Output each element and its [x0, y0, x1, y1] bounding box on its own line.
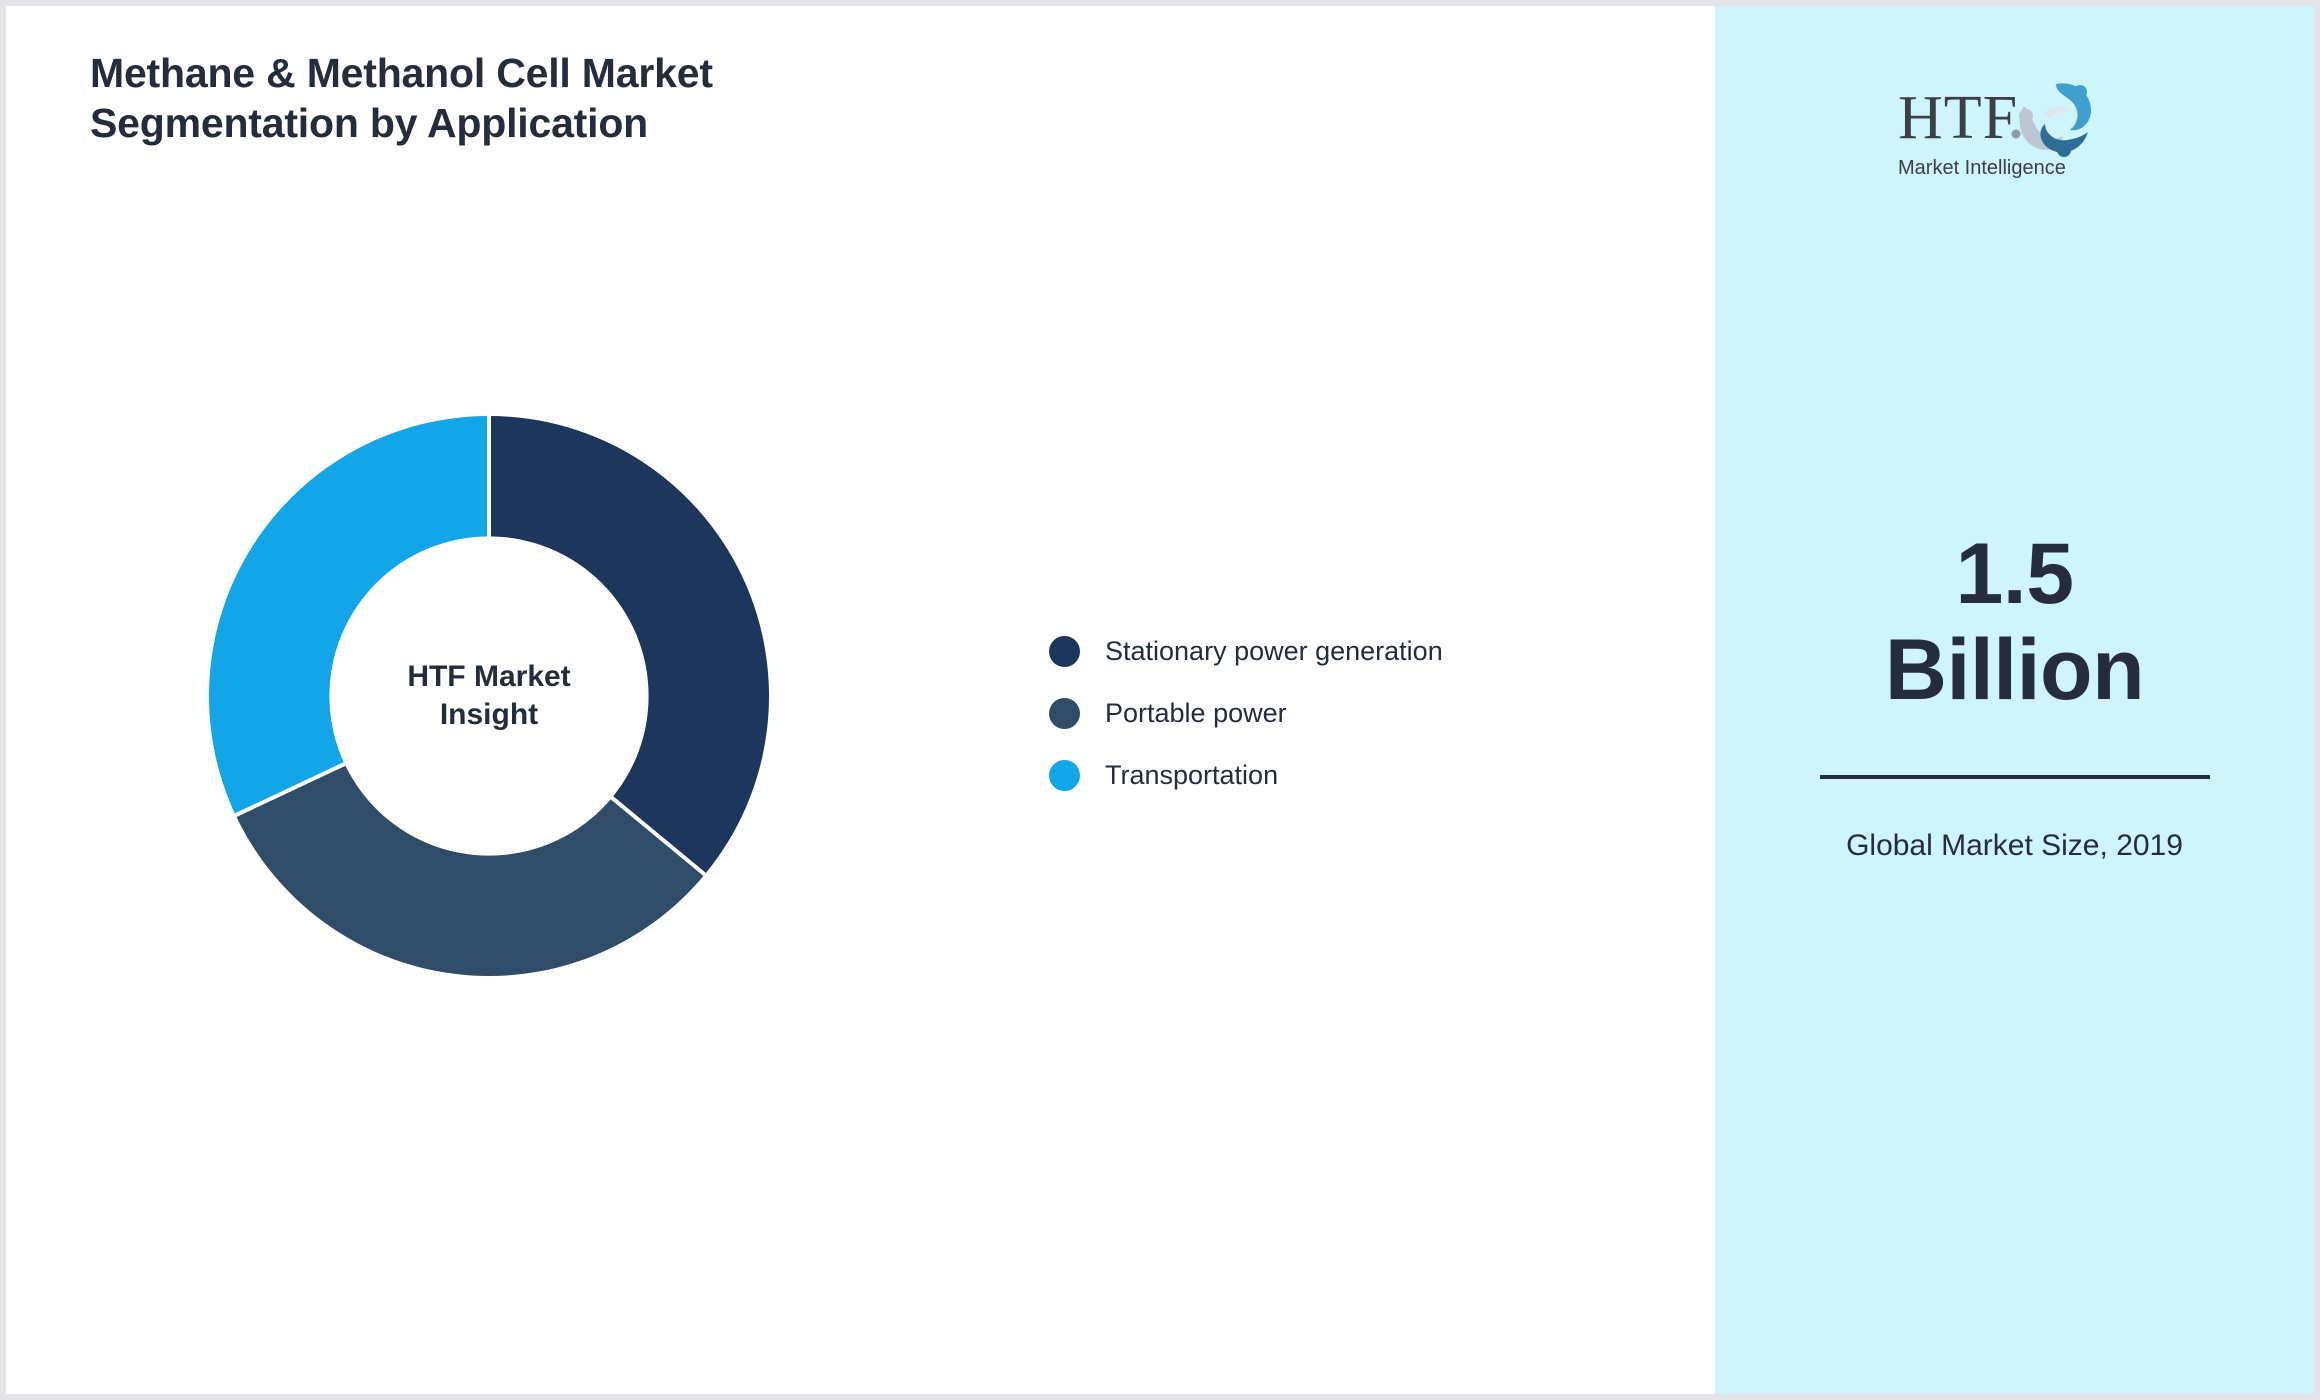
legend-label-portable-power: Portable power — [1105, 698, 1287, 729]
donut-chart: HTF Market Insight — [209, 416, 769, 976]
stat-caption-line-2: 2019 — [2116, 829, 2183, 862]
page-title-line-2: Segmentation by Application — [90, 98, 1190, 148]
htf-logo[interactable]: HTF Market Intell — [1890, 64, 2140, 182]
stat-value-line-1: 1.5 — [1885, 526, 2144, 622]
legend-swatch-circle-icon — [1049, 760, 1080, 791]
stat-value: 1.5 Billion — [1885, 526, 2144, 719]
stat-caption: Global Market Size, 2019 — [1835, 825, 2195, 866]
svg-text:Market Intelligence: Market Intelligence — [1898, 157, 2066, 179]
stat-caption-line-1: Global Market Size, — [1846, 829, 2108, 862]
infographic-canvas: Methane & Methanol Cell Market Segmentat… — [0, 0, 2320, 1400]
legend-label-transportation: Transportation — [1105, 760, 1278, 791]
legend-swatch-circle-icon — [1049, 698, 1080, 729]
legend-item-stationary-power-generation[interactable]: Stationary power generation — [1049, 620, 1443, 682]
htf-triskelion-logo-icon: HTF Market Intell — [1890, 64, 2140, 182]
chart-panel: Methane & Methanol Cell Market Segmentat… — [6, 6, 1715, 1394]
stat-value-line-2: Billion — [1885, 622, 2144, 718]
donut-chart-svg — [209, 416, 769, 976]
stat-divider — [1820, 775, 2210, 779]
legend-item-transportation[interactable]: Transportation — [1049, 744, 1443, 806]
donut-hole — [329, 536, 648, 855]
legend-label-stationary-power-generation: Stationary power generation — [1105, 636, 1443, 667]
legend-item-portable-power[interactable]: Portable power — [1049, 682, 1443, 744]
page-title: Methane & Methanol Cell Market Segmentat… — [90, 48, 1190, 148]
page-title-line-1: Methane & Methanol Cell Market — [90, 48, 1190, 98]
global-market-size-stat: 1.5 Billion Global Market Size, 2019 — [1715, 526, 2314, 866]
legend-swatch-circle-icon — [1049, 636, 1080, 667]
stat-sidebar: HTF Market Intell — [1715, 6, 2314, 1394]
svg-text:HTF: HTF — [1898, 84, 2018, 152]
chart-legend: Stationary power generation Portable pow… — [1049, 620, 1443, 806]
